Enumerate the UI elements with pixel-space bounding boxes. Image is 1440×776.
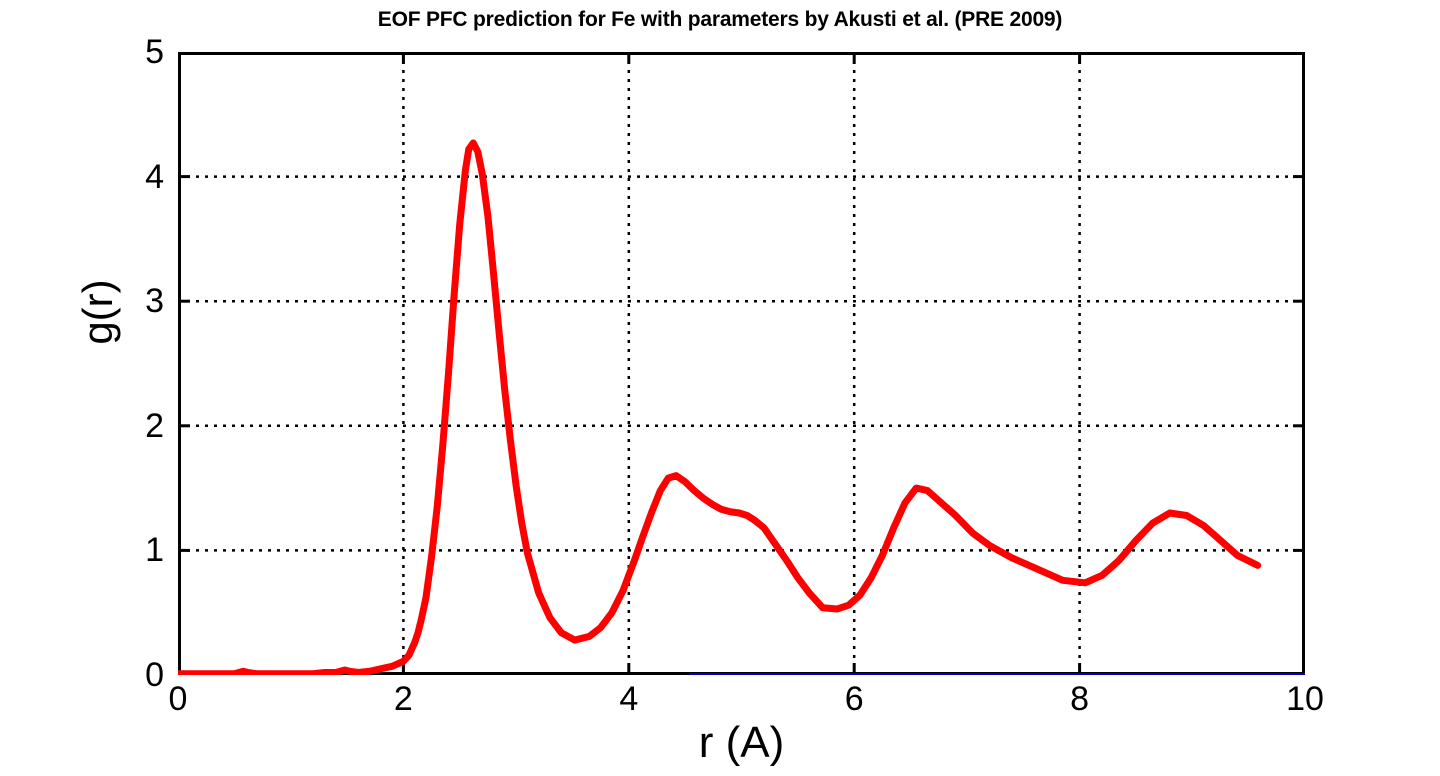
y-tick-label-3: 3 — [145, 284, 164, 318]
x-axis-label: r (A) — [178, 718, 1305, 768]
y-tick-label-2: 2 — [145, 409, 164, 443]
data-series — [178, 143, 1305, 675]
y-tick-label-0: 0 — [145, 658, 164, 692]
x-tick-label-0: 0 — [169, 682, 188, 716]
figure-canvas: EOF PFC prediction for Fe with parameter… — [0, 0, 1440, 776]
y-tick-label-4: 4 — [145, 160, 164, 194]
x-tick-label-6: 6 — [845, 682, 864, 716]
gridlines — [178, 52, 1305, 675]
y-tick-label-1: 1 — [145, 533, 164, 567]
axis-ticks — [178, 52, 1305, 675]
y-axis-tick-labels: 012345 — [120, 52, 164, 675]
x-tick-label-4: 4 — [619, 682, 638, 716]
x-tick-label-10: 10 — [1286, 682, 1324, 716]
x-tick-label-8: 8 — [1070, 682, 1089, 716]
plot-area — [178, 52, 1305, 675]
x-tick-label-2: 2 — [394, 682, 413, 716]
y-axis-label: g(r) — [74, 212, 122, 412]
plot-svg — [178, 52, 1305, 675]
y-tick-label-5: 5 — [145, 35, 164, 69]
chart-title: EOF PFC prediction for Fe with parameter… — [0, 8, 1440, 32]
